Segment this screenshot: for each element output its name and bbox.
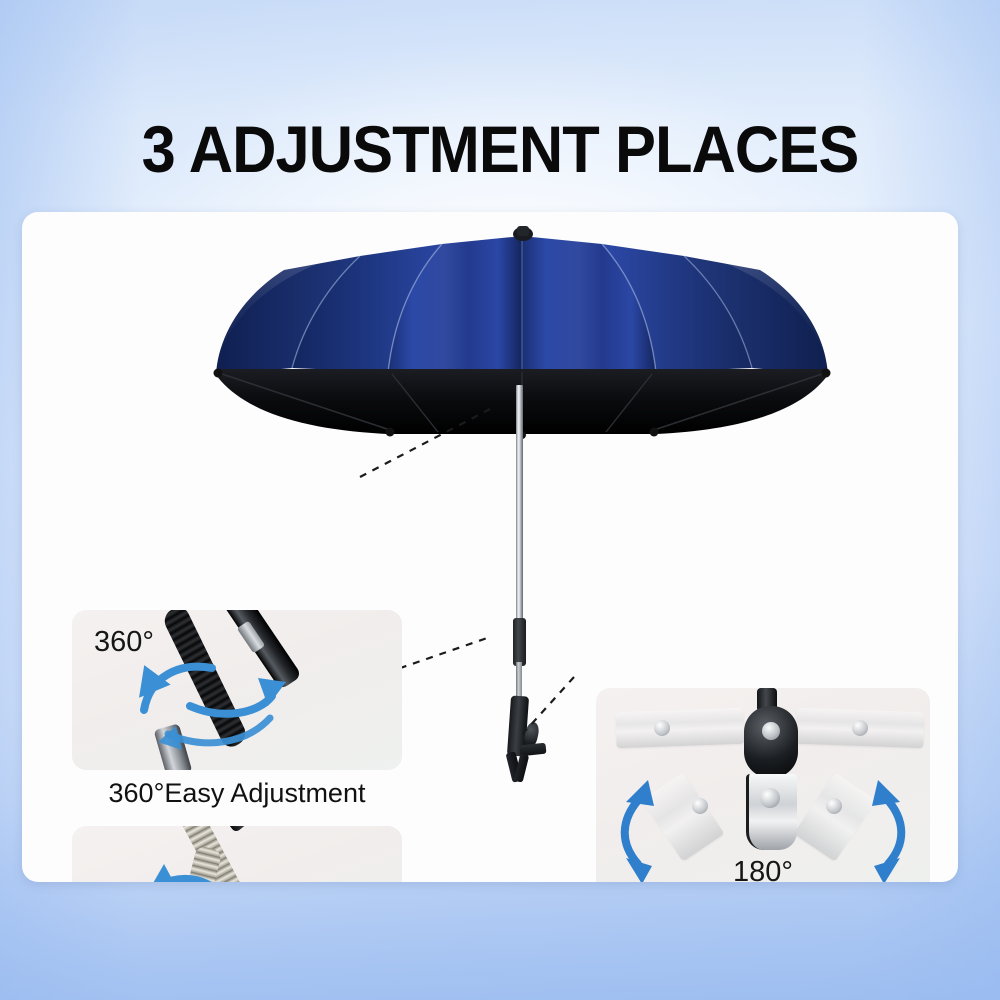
panel-360-top-caption: 360°Easy Adjustment [72, 778, 402, 809]
panel-180-degree-label: 180° [596, 856, 930, 882]
umbrella-shaft [516, 385, 523, 635]
tilt-arrows-icon [596, 688, 930, 882]
shaft-grip [513, 618, 526, 666]
panel-360-top-degree-label: 360° [94, 626, 154, 659]
panel-180: 180° [596, 688, 930, 882]
umbrella-clamp [492, 696, 552, 788]
page-title: 3 ADJUSTMENT PLACES [35, 114, 965, 184]
content-card: 360° 360°Easy Adjustment 360° 360°Easy A… [22, 212, 958, 882]
panel-360-top: 360° [72, 610, 402, 770]
rotation-arrows-icon [72, 826, 402, 882]
product-infographic: 3 ADJUSTMENT PLACES [0, 0, 1000, 1000]
panel-360-bottom: 360° [72, 826, 402, 882]
